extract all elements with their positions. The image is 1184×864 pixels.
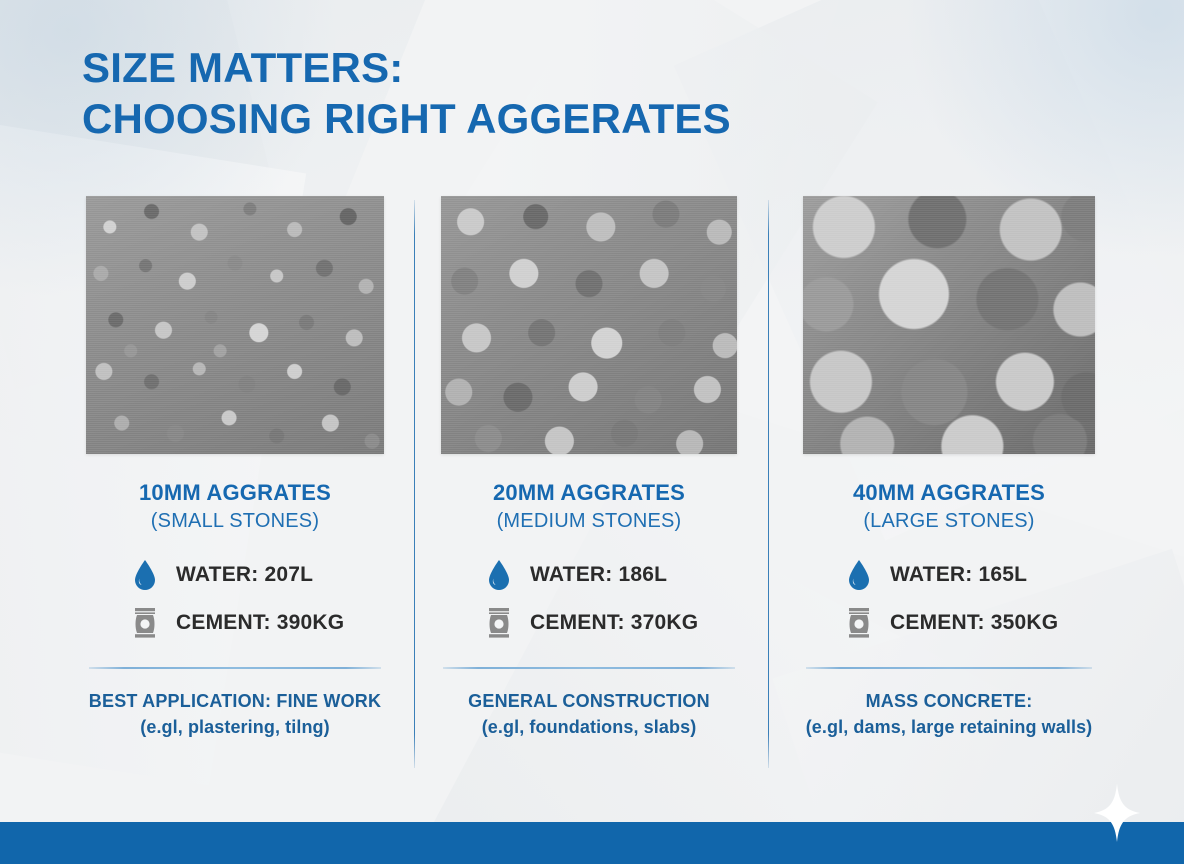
application-block-40mm: MASS CONCRETE: (e.gl, dams, large retain… bbox=[806, 691, 1093, 738]
application-block-10mm: BEST APPLICATION: FINE WORK (e.gl, plast… bbox=[89, 691, 381, 738]
spec-row-cement: CEMENT: 370KG bbox=[484, 605, 734, 641]
spec-water-value-20mm: WATER: 186L bbox=[530, 563, 667, 587]
title-line-1: SIZE MATTERS: bbox=[82, 42, 731, 93]
card-title-40mm: 40MM AGGRATES bbox=[853, 480, 1045, 506]
card-subtitle-20mm: (MEDIUM STONES) bbox=[497, 510, 682, 533]
card-separator-20mm bbox=[443, 667, 735, 669]
spec-row-water: WATER: 165L bbox=[844, 557, 1094, 593]
aggregate-card-20mm: 20MM AGGRATES (MEDIUM STONES) WATER: 186… bbox=[412, 196, 766, 738]
application-block-20mm: GENERAL CONSTRUCTION (e.gl, foundations,… bbox=[468, 691, 710, 738]
aggregate-photo-40mm bbox=[803, 196, 1095, 454]
application-title-10mm: BEST APPLICATION: FINE WORK bbox=[89, 691, 381, 712]
cement-bag-icon bbox=[130, 605, 160, 641]
spec-row-cement: CEMENT: 390KG bbox=[130, 605, 380, 641]
cement-bag-icon bbox=[484, 605, 514, 641]
spec-water-value-40mm: WATER: 165L bbox=[890, 563, 1027, 587]
spec-cement-value-40mm: CEMENT: 350KG bbox=[890, 611, 1058, 635]
spec-list-10mm: WATER: 207L CEMENT: 390KG bbox=[90, 557, 380, 641]
aggregate-photo-10mm bbox=[86, 196, 384, 454]
water-drop-icon bbox=[484, 557, 514, 593]
aggregate-photo-20mm bbox=[441, 196, 737, 454]
card-title-20mm: 20MM AGGRATES bbox=[493, 480, 685, 506]
spec-list-20mm: WATER: 186L CEMENT: 370KG bbox=[444, 557, 734, 641]
card-title-10mm: 10MM AGGRATES bbox=[139, 480, 331, 506]
page-title: SIZE MATTERS: CHOOSING RIGHT AGGERATES bbox=[82, 42, 731, 144]
spec-cement-value-10mm: CEMENT: 390KG bbox=[176, 611, 344, 635]
card-separator-10mm bbox=[89, 667, 381, 669]
footer-bar bbox=[0, 822, 1184, 864]
application-examples-20mm: (e.gl, foundations, slabs) bbox=[468, 717, 710, 738]
cement-bag-icon bbox=[844, 605, 874, 641]
sparkle-icon bbox=[1094, 784, 1140, 842]
infographic-poster: SIZE MATTERS: CHOOSING RIGHT AGGERATES 1… bbox=[0, 0, 1184, 864]
spec-water-value-10mm: WATER: 207L bbox=[176, 563, 313, 587]
spec-list-40mm: WATER: 165L CEMENT: 350KG bbox=[804, 557, 1094, 641]
water-drop-icon bbox=[130, 557, 160, 593]
aggregate-card-40mm: 40MM AGGRATES (LARGE STONES) WATER: 165L bbox=[772, 196, 1126, 738]
spec-row-water: WATER: 207L bbox=[130, 557, 380, 593]
card-subtitle-10mm: (SMALL STONES) bbox=[151, 510, 319, 533]
spec-row-cement: CEMENT: 350KG bbox=[844, 605, 1094, 641]
aggregate-columns: 10MM AGGRATES (SMALL STONES) WATER: 207L bbox=[0, 196, 1184, 738]
application-title-40mm: MASS CONCRETE: bbox=[806, 691, 1093, 712]
application-examples-10mm: (e.gl, plastering, tilng) bbox=[89, 717, 381, 738]
application-title-20mm: GENERAL CONSTRUCTION bbox=[468, 691, 710, 712]
card-subtitle-40mm: (LARGE STONES) bbox=[863, 510, 1034, 533]
spec-cement-value-20mm: CEMENT: 370KG bbox=[530, 611, 698, 635]
water-drop-icon bbox=[844, 557, 874, 593]
aggregate-card-10mm: 10MM AGGRATES (SMALL STONES) WATER: 207L bbox=[58, 196, 412, 738]
spec-row-water: WATER: 186L bbox=[484, 557, 734, 593]
application-examples-40mm: (e.gl, dams, large retaining walls) bbox=[806, 717, 1093, 738]
title-line-2: CHOOSING RIGHT AGGERATES bbox=[82, 93, 731, 144]
card-separator-40mm bbox=[806, 667, 1092, 669]
